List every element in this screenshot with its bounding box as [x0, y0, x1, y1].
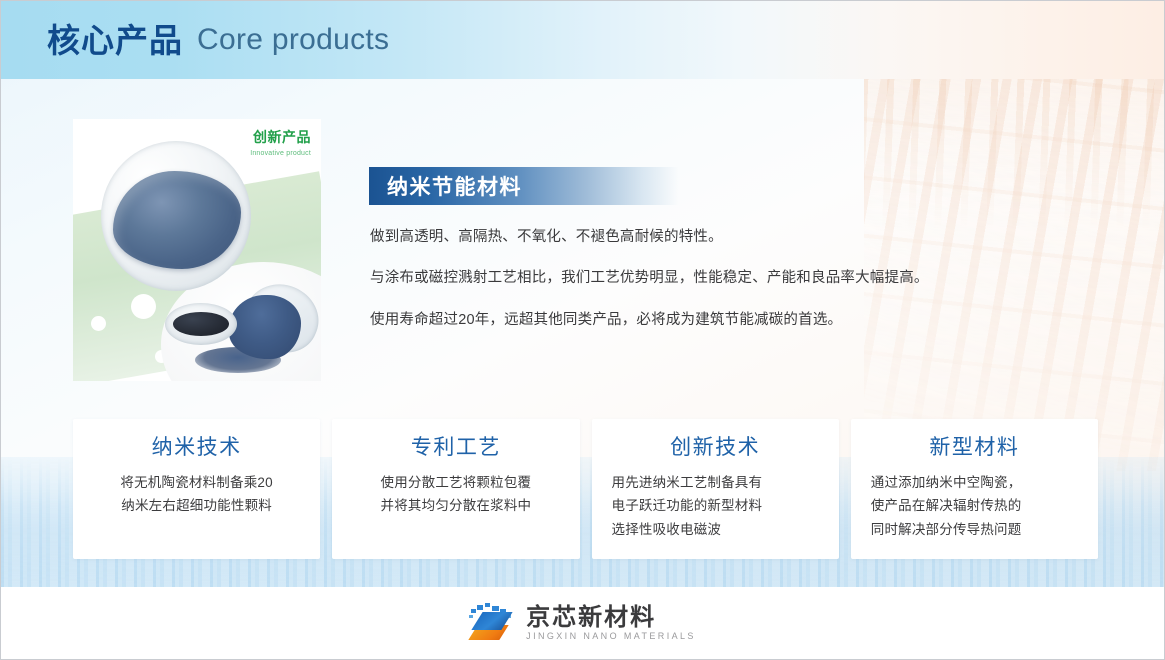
- feature-card-title: 纳米技术: [87, 435, 306, 461]
- feature-card-line: 同时解决部分传导热问题: [871, 518, 1084, 541]
- feature-card-line: 使产品在解决辐射传热的: [871, 494, 1084, 517]
- decorative-dot: [131, 294, 156, 319]
- logo-pixel: [485, 603, 490, 607]
- feature-heading-text: 纳米节能材料: [369, 171, 522, 201]
- blue-pellets-shape: [229, 295, 301, 359]
- feature-card-list: 纳米技术 将无机陶瓷材料制备乘20 纳米左右超细功能性颗料 专利工艺 使用分散工…: [73, 419, 1098, 559]
- page-title: 核心产品 Core products: [47, 1, 389, 79]
- feature-paragraph: 使用寿命超过20年，远超其他同类产品，必将成为建筑节能减碳的首选。: [370, 312, 1010, 329]
- company-logo: 京芯新材料 JINGXIN NANO MATERIALS: [469, 603, 696, 643]
- feature-card-body: 将无机陶瓷材料制备乘20 纳米左右超细功能性颗料: [87, 471, 306, 517]
- feature-card-line: 将无机陶瓷材料制备乘20: [87, 471, 306, 494]
- feature-card-title: 专利工艺: [346, 435, 565, 461]
- feature-card[interactable]: 纳米技术 将无机陶瓷材料制备乘20 纳米左右超细功能性颗料: [73, 419, 320, 559]
- feature-card-body: 使用分散工艺将颗粒包覆 并将其均匀分散在浆料中: [346, 471, 565, 517]
- logo-pixel: [492, 606, 499, 611]
- logo-pixel-mark-icon: [469, 603, 515, 643]
- badge-label-cn: 创新产品: [250, 127, 311, 147]
- page-title-cn: 核心产品: [47, 24, 183, 57]
- feature-description: 做到高透明、高隔热、不氧化、不褪色高耐候的特性。 与涂布或磁控溅射工艺相比，我们…: [370, 229, 1010, 329]
- feature-card-line: 通过添加纳米中空陶瓷，: [871, 471, 1084, 494]
- feature-card-title: 新型材料: [865, 435, 1084, 461]
- small-dish-icon: [165, 303, 237, 345]
- header-band: 核心产品 Core products: [1, 1, 1164, 79]
- feature-paragraph: 与涂布或磁控溅射工艺相比，我们工艺优势明显，性能稳定、产能和良品率大幅提高。: [370, 270, 1010, 287]
- logo-pixel: [469, 615, 473, 618]
- logo-text: 京芯新材料 JINGXIN NANO MATERIALS: [526, 605, 696, 640]
- slide-canvas: 核心产品 Core products 创新产品 Innovative produ…: [0, 0, 1165, 660]
- feature-card-line: 并将其均匀分散在浆料中: [346, 494, 565, 517]
- feature-heading-banner: 纳米节能材料: [369, 167, 679, 205]
- feature-card-line: 用先进纳米工艺制备具有: [612, 471, 825, 494]
- feature-card[interactable]: 专利工艺 使用分散工艺将颗粒包覆 并将其均匀分散在浆料中: [332, 419, 579, 559]
- logo-pixel: [477, 605, 483, 610]
- feature-card-title: 创新技术: [606, 435, 825, 461]
- page-title-en: Core products: [197, 25, 389, 55]
- logo-pixel: [471, 609, 476, 613]
- innovative-product-badge: 创新产品 Innovative product: [250, 127, 311, 157]
- product-image-card: 创新产品 Innovative product: [73, 119, 321, 381]
- feature-card[interactable]: 新型材料 通过添加纳米中空陶瓷， 使产品在解决辐射传热的 同时解决部分传导热问题: [851, 419, 1098, 559]
- badge-label-en: Innovative product: [250, 150, 311, 157]
- logo-name-en: JINGXIN NANO MATERIALS: [526, 632, 696, 641]
- logo-name-cn: 京芯新材料: [526, 605, 696, 630]
- feature-card-line: 选择性吸收电磁波: [612, 518, 825, 541]
- feature-card-body: 用先进纳米工艺制备具有 电子跃迁功能的新型材料 选择性吸收电磁波: [606, 471, 825, 541]
- petri-dish-icon: [101, 141, 251, 291]
- feature-card[interactable]: 创新技术 用先进纳米工艺制备具有 电子跃迁功能的新型材料 选择性吸收电磁波: [592, 419, 839, 559]
- blue-powder-shape: [113, 171, 241, 269]
- feature-card-body: 通过添加纳米中空陶瓷， 使产品在解决辐射传热的 同时解决部分传导热问题: [865, 471, 1084, 541]
- footer: 京芯新材料 JINGXIN NANO MATERIALS: [1, 587, 1164, 659]
- feature-paragraph: 做到高透明、高隔热、不氧化、不褪色高耐候的特性。: [370, 229, 1010, 246]
- dark-granules-shape: [173, 312, 229, 336]
- decorative-dot: [91, 316, 106, 331]
- feature-card-line: 使用分散工艺将颗粒包覆: [346, 471, 565, 494]
- feature-card-line: 纳米左右超细功能性颗料: [87, 494, 306, 517]
- feature-card-line: 电子跃迁功能的新型材料: [612, 494, 825, 517]
